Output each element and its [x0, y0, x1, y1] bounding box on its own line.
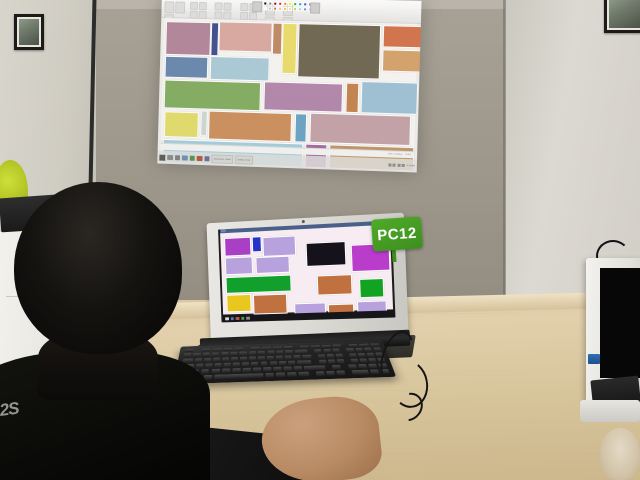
canvas-shape[interactable] — [165, 21, 211, 56]
canvas-shape[interactable] — [252, 236, 262, 252]
keyboard-key[interactable] — [327, 354, 335, 358]
volume-icon[interactable] — [392, 164, 395, 167]
monitor-display[interactable] — [600, 268, 640, 378]
keyboard-key[interactable] — [326, 371, 335, 376]
canvas-shape[interactable] — [255, 256, 290, 274]
intel-sticker-icon — [588, 354, 600, 364]
keyboard-key[interactable] — [276, 373, 285, 378]
media-icon[interactable] — [241, 317, 244, 321]
keyboard-key[interactable] — [298, 372, 309, 377]
keyboard-key[interactable] — [368, 358, 376, 362]
keyboard-key[interactable] — [273, 367, 281, 372]
keyboard-key[interactable] — [350, 359, 358, 363]
canvas-shape[interactable] — [281, 23, 297, 74]
keyboard-key[interactable] — [359, 344, 368, 347]
color-swatch[interactable] — [273, 2, 277, 6]
keyboard-key[interactable] — [358, 353, 366, 357]
keyboard-key[interactable] — [201, 348, 210, 351]
canvas-shape[interactable] — [253, 294, 288, 315]
taskbar-app-label: untitled - Paint — [237, 159, 250, 161]
keyboard-key[interactable] — [263, 367, 271, 372]
desk-object — [600, 428, 640, 480]
keyboard-key[interactable] — [211, 369, 220, 374]
keyboard-key[interactable] — [294, 366, 303, 371]
color-swatch[interactable] — [278, 7, 282, 11]
keyboard-key[interactable] — [258, 351, 265, 355]
canvas-shape[interactable] — [208, 111, 292, 143]
canvas-shape[interactable] — [317, 274, 353, 295]
keyboard-key[interactable] — [224, 348, 233, 351]
keyboard-key[interactable] — [284, 367, 292, 372]
canvas-shape[interactable] — [200, 110, 208, 136]
keyboard-key[interactable] — [193, 353, 201, 357]
keyboard-key[interactable] — [348, 364, 357, 369]
battery-icon[interactable] — [397, 164, 400, 167]
color-palette[interactable] — [263, 1, 312, 11]
keyboard-key[interactable] — [273, 346, 282, 349]
canvas-shape[interactable] — [164, 111, 199, 138]
laptop-canvas[interactable] — [220, 225, 393, 315]
language-icon[interactable] — [402, 164, 405, 167]
ribbon-button[interactable] — [198, 2, 206, 10]
keyboard-key[interactable] — [304, 365, 326, 370]
keyboard-key[interactable] — [332, 365, 341, 370]
powerpoint-icon[interactable] — [197, 156, 203, 162]
keyboard-key[interactable] — [214, 363, 221, 367]
settings-icon[interactable] — [246, 316, 249, 320]
keyboard-key[interactable] — [185, 349, 194, 352]
canvas-shape[interactable] — [294, 113, 307, 142]
keyboard-key[interactable] — [213, 358, 220, 362]
keyboard-key[interactable] — [276, 356, 283, 360]
keyboard-key[interactable] — [261, 362, 268, 366]
keyboard-key[interactable] — [233, 363, 240, 367]
key-spacer — [345, 359, 349, 363]
clock-label[interactable]: 10:24 AM — [406, 165, 415, 167]
keyboard-key[interactable] — [314, 349, 322, 353]
keyboard-key[interactable] — [367, 353, 375, 357]
taskbar-app-word[interactable]: Document1 - Word — [211, 154, 233, 164]
picture-artwork — [17, 17, 41, 47]
keyboard-key[interactable] — [370, 343, 380, 346]
keyboard-key[interactable] — [221, 352, 228, 356]
color-swatch[interactable] — [268, 2, 272, 6]
keyboard-key[interactable] — [205, 363, 213, 367]
key-spacer — [295, 346, 299, 349]
keyboard-key[interactable] — [352, 370, 370, 375]
keyboard-key[interactable] — [336, 354, 344, 358]
color-swatch[interactable] — [263, 6, 267, 10]
keyboard-key[interactable] — [201, 369, 210, 374]
keyboard-key[interactable] — [336, 359, 344, 363]
keyboard-key[interactable] — [240, 351, 247, 355]
key-spacer — [313, 355, 316, 359]
color-swatch[interactable] — [303, 2, 308, 6]
keyboard-key[interactable] — [222, 357, 229, 361]
keyboard-key[interactable] — [249, 351, 256, 355]
keyboard-key[interactable] — [368, 364, 377, 368]
ribbon-button[interactable] — [240, 3, 248, 11]
system-tray[interactable]: 10:24 AM — [388, 163, 417, 167]
monitor-stand — [580, 400, 640, 422]
keyboard-key[interactable] — [288, 361, 295, 365]
canvas-shape[interactable] — [225, 256, 253, 275]
keyboard-key[interactable] — [184, 353, 192, 357]
keyboard-key[interactable] — [300, 345, 309, 348]
canvas-shape[interactable] — [345, 83, 359, 114]
keyboard-key[interactable] — [294, 355, 301, 359]
keyboard-key[interactable] — [267, 356, 274, 360]
canvas-shape[interactable] — [297, 23, 381, 79]
pc-label-text: PC12 — [377, 224, 418, 244]
keyboard-key[interactable] — [323, 349, 331, 353]
projected-screen: FileHomeView ClipboardImageToolsShapesSi… — [157, 0, 421, 173]
keyboard-key[interactable] — [332, 344, 341, 347]
taskbar-app-paint[interactable]: untitled - Paint — [235, 155, 253, 165]
ribbon-button[interactable] — [240, 12, 248, 20]
canvas-shape[interactable] — [383, 25, 422, 49]
color-swatch[interactable] — [293, 2, 298, 6]
keyboard-key[interactable] — [316, 371, 325, 376]
key-spacer — [311, 372, 315, 377]
ribbon-button[interactable] — [248, 12, 256, 20]
key-spacer — [309, 349, 312, 353]
keyboard-key[interactable] — [358, 364, 367, 368]
keyboard-key[interactable] — [346, 348, 354, 352]
taskbar-app-label: Document1 - Word — [214, 158, 231, 161]
keyboard-key[interactable] — [349, 353, 357, 357]
keyboard-key[interactable] — [214, 373, 263, 379]
keyboard[interactable] — [173, 340, 396, 384]
right-wall-edge — [503, 0, 506, 300]
canvas-shape[interactable] — [306, 241, 347, 267]
keyboard-key[interactable] — [349, 344, 358, 347]
keyboard-key[interactable] — [359, 358, 367, 362]
canvas-shape[interactable] — [360, 81, 418, 115]
canvas-shape[interactable] — [262, 235, 296, 256]
color-swatch[interactable] — [298, 2, 303, 6]
start-button-icon[interactable] — [159, 154, 165, 160]
keyboard-key[interactable] — [212, 348, 221, 351]
paint-canvas[interactable] — [161, 18, 418, 148]
keyboard-key[interactable] — [253, 368, 261, 373]
color-swatch[interactable] — [263, 1, 267, 5]
canvas-shape[interactable] — [226, 275, 292, 294]
keyboard-key[interactable] — [258, 356, 265, 360]
key-spacer — [327, 365, 331, 369]
webcam-icon — [301, 220, 304, 223]
ribbon-button[interactable] — [175, 2, 185, 14]
canvas-size-label: 1920 x 1080px — [388, 153, 403, 156]
keyboard-key[interactable] — [318, 360, 326, 364]
keyboard-key[interactable] — [370, 370, 379, 375]
keyboard-key[interactable] — [355, 348, 363, 352]
keyboard-key[interactable] — [196, 364, 204, 368]
scene-root: FileHomeView ClipboardImageToolsShapesSi… — [0, 0, 640, 480]
person-head — [14, 182, 182, 354]
keyboard-key[interactable] — [251, 362, 258, 366]
keyboard-key[interactable] — [373, 347, 381, 351]
keyboard-key[interactable] — [202, 353, 210, 357]
keyboard-key[interactable] — [267, 351, 274, 355]
keyboard-key[interactable] — [224, 363, 231, 367]
color-swatch[interactable] — [298, 7, 303, 11]
ribbon-button[interactable] — [198, 11, 206, 19]
keyboard-key[interactable] — [231, 357, 238, 361]
search-icon[interactable] — [167, 155, 173, 161]
picture-artwork — [607, 0, 640, 30]
canvas-shape[interactable] — [382, 49, 422, 73]
key-spacer — [314, 360, 317, 364]
keyboard-key[interactable] — [285, 355, 292, 359]
keyboard-key[interactable] — [232, 368, 240, 373]
canvas-shape[interactable] — [218, 21, 272, 52]
keyboard-key[interactable] — [251, 347, 260, 350]
canvas-shape[interactable] — [210, 56, 270, 81]
keyboard-key[interactable] — [279, 361, 286, 365]
network-icon[interactable] — [388, 163, 391, 166]
keyboard-key[interactable] — [322, 345, 331, 348]
key-spacer — [346, 370, 350, 374]
color-swatch[interactable] — [288, 7, 293, 11]
key-spacer — [246, 347, 250, 350]
keyboard-key[interactable] — [332, 348, 340, 352]
keyboard-key[interactable] — [336, 371, 345, 376]
canvas-shape[interactable] — [263, 81, 343, 112]
pc-label-sign: PC12 — [371, 216, 423, 251]
keyboard-key[interactable] — [262, 347, 271, 350]
key-spacer — [345, 354, 349, 358]
color-swatch[interactable] — [293, 7, 298, 11]
ribbon-button[interactable] — [214, 11, 222, 19]
keyboard-key[interactable] — [242, 368, 250, 373]
canvas-shape[interactable] — [224, 237, 251, 257]
canvas-shape[interactable] — [165, 56, 209, 79]
keyboard-key[interactable] — [295, 350, 308, 354]
color-swatch[interactable] — [303, 7, 308, 11]
keyboard-key[interactable] — [270, 361, 277, 365]
ribbon-button[interactable] — [223, 3, 231, 11]
color-swatch[interactable] — [283, 7, 287, 11]
excel-icon[interactable] — [189, 155, 195, 161]
ribbon-button[interactable] — [189, 2, 197, 10]
ribbon-button[interactable] — [223, 12, 231, 20]
keyboard-key[interactable] — [303, 355, 312, 359]
keyboard-key[interactable] — [318, 354, 325, 358]
canvas-shape[interactable] — [359, 278, 384, 298]
ribbon-button[interactable] — [215, 2, 223, 10]
start-button-icon[interactable] — [225, 317, 228, 321]
keyboard-key[interactable] — [327, 359, 335, 363]
framed-picture-right — [604, 0, 640, 33]
edit-colors-button[interactable] — [310, 2, 320, 13]
keyboard-key[interactable] — [212, 352, 220, 356]
zoom-level-label: 100% — [405, 154, 411, 156]
keyboard-key[interactable] — [311, 345, 320, 348]
color1-swatch[interactable] — [252, 1, 262, 12]
keyboard-key[interactable] — [265, 373, 274, 378]
canvas-shape[interactable] — [164, 80, 261, 112]
keyboard-key[interactable] — [240, 357, 247, 361]
color-swatch[interactable] — [278, 2, 282, 6]
ribbon-button[interactable] — [189, 11, 197, 19]
keyboard-key[interactable] — [242, 362, 249, 366]
canvas-shape[interactable] — [309, 113, 411, 146]
key-spacer — [341, 348, 345, 352]
keyboard-key[interactable] — [364, 348, 372, 352]
keyboard-key[interactable] — [276, 350, 283, 354]
keyboard-key[interactable] — [287, 372, 296, 377]
keyboard-key[interactable] — [235, 347, 244, 350]
keyboard-key[interactable] — [284, 346, 293, 349]
keyboard-key[interactable] — [204, 358, 211, 362]
ribbon-button[interactable] — [164, 1, 174, 13]
color-swatch[interactable] — [273, 6, 277, 10]
keyboard-key[interactable] — [230, 352, 237, 356]
keyboard-key[interactable] — [285, 350, 292, 354]
color-swatch[interactable] — [283, 2, 287, 6]
keyboard-key[interactable] — [195, 358, 202, 362]
keyboard-key[interactable] — [222, 369, 230, 374]
keyboard-key[interactable] — [249, 356, 256, 360]
key-spacer — [343, 344, 347, 347]
key-grid[interactable] — [179, 343, 390, 380]
color-swatch[interactable] — [288, 2, 293, 6]
canvas-shape[interactable] — [226, 294, 251, 313]
browser-icon[interactable] — [236, 317, 239, 321]
taskview-icon[interactable] — [174, 155, 180, 161]
browser-icon[interactable] — [204, 156, 210, 162]
folder-icon[interactable] — [230, 317, 233, 321]
key-spacer — [343, 365, 347, 369]
keyboard-key[interactable] — [297, 360, 312, 365]
explorer-icon[interactable] — [182, 155, 188, 161]
color-swatch[interactable] — [268, 6, 272, 10]
key-spacer — [196, 349, 200, 352]
framed-picture-left — [14, 14, 44, 50]
laptop-display[interactable] — [218, 220, 395, 322]
